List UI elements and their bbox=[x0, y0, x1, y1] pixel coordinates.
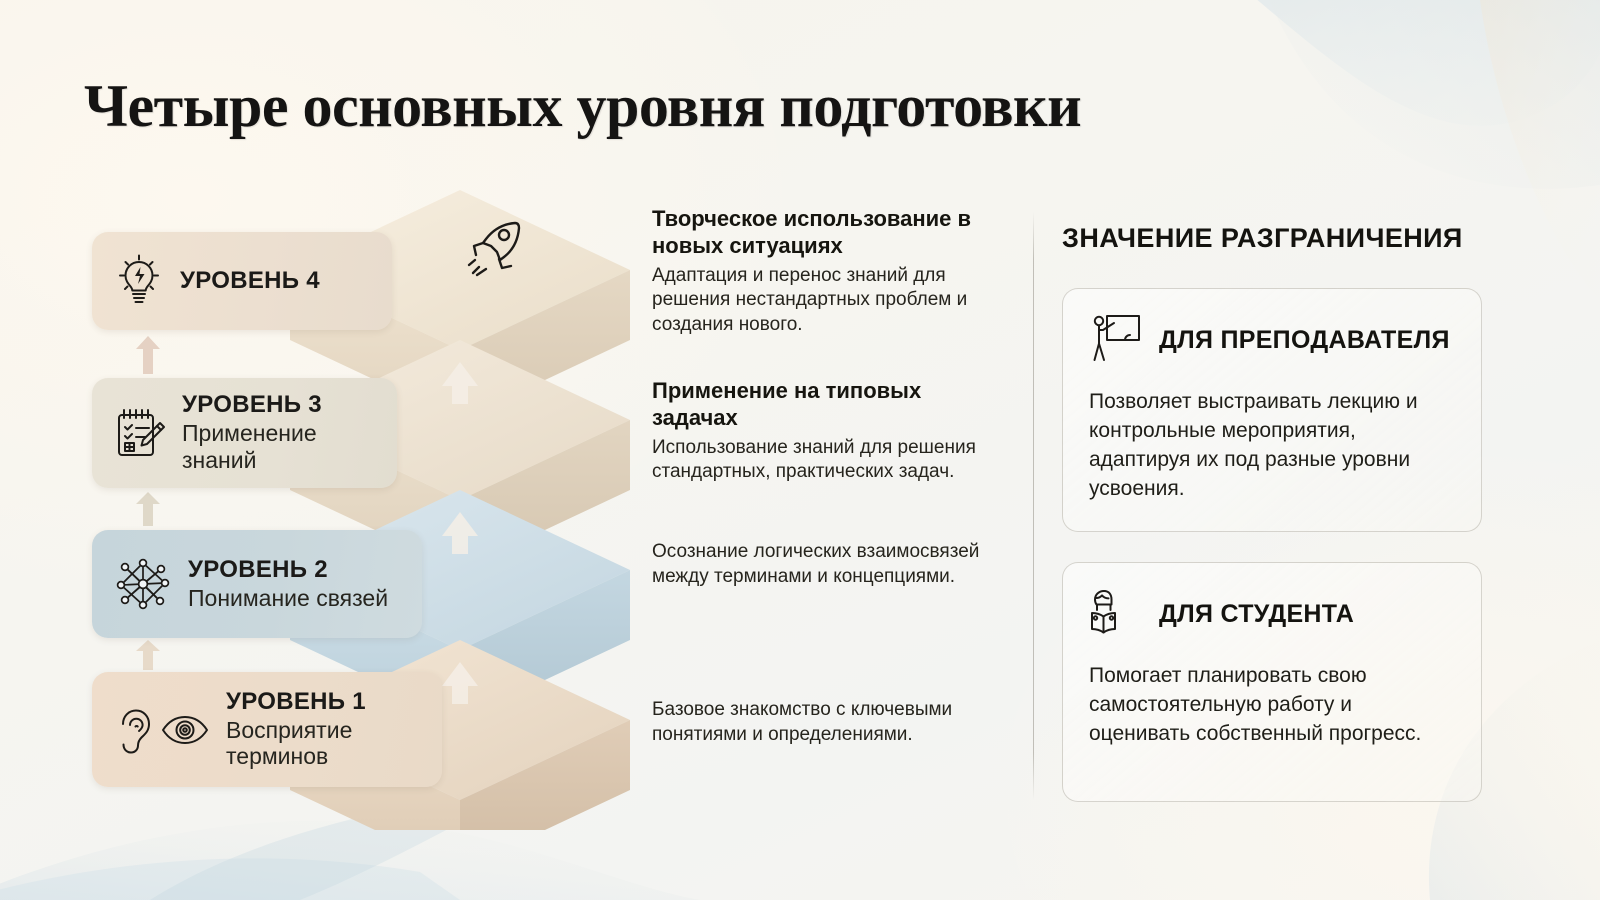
student-reading-icon bbox=[1089, 585, 1143, 644]
description-level-4: Творческое использование в новых ситуаци… bbox=[652, 206, 1004, 338]
description-level-2: Осознание логических взаимосвязей между … bbox=[652, 540, 1004, 589]
card-for-student[interactable]: ДЛЯ СТУДЕНТА Помогает планировать свою с… bbox=[1062, 562, 1482, 802]
infographic-canvas: Четыре основных уровня подготовки bbox=[0, 0, 1600, 900]
level-3-subtitle: Применение знаний bbox=[182, 420, 397, 473]
network-nodes-icon bbox=[114, 555, 172, 613]
card-for-student-title: ДЛЯ СТУДЕНТА bbox=[1159, 600, 1354, 629]
lightbulb-bolt-icon bbox=[114, 254, 164, 308]
level-2-subtitle: Понимание связей bbox=[188, 585, 388, 612]
teacher-board-icon bbox=[1089, 311, 1143, 370]
checklist-pencil-icon bbox=[114, 405, 166, 461]
level-1-label: УРОВЕНЬ 1 bbox=[226, 689, 442, 716]
card-for-teacher[interactable]: ДЛЯ ПРЕПОДАВАТЕЛЯ Позволяет выстраивать … bbox=[1062, 288, 1482, 532]
description-level-1: Базовое знакомство с ключевыми понятиями… bbox=[652, 698, 1004, 747]
description-level-3: Применение на типовых задачах Использова… bbox=[652, 378, 1004, 485]
right-panel-heading: ЗНАЧЕНИЕ РАЗГРАНИЧЕНИЯ bbox=[1062, 223, 1463, 254]
eye-icon bbox=[160, 710, 210, 750]
description-level-4-heading: Творческое использование в новых ситуаци… bbox=[652, 206, 1004, 260]
description-level-4-body: Адаптация и перенос знаний для решения н… bbox=[652, 264, 1004, 338]
arrow-up-2-to-3 bbox=[135, 492, 161, 526]
arrow-up-3-to-4 bbox=[135, 336, 161, 374]
level-2-pill[interactable]: УРОВЕНЬ 2 Понимание связей bbox=[92, 530, 422, 638]
level-2-label: УРОВЕНЬ 2 bbox=[188, 557, 388, 584]
description-level-3-body: Использование знаний для решения стандар… bbox=[652, 436, 1004, 485]
rocket-icon bbox=[466, 216, 528, 280]
arrow-up-1-to-2 bbox=[135, 640, 161, 670]
card-for-student-body: Помогает планировать свою самостоятельну… bbox=[1089, 662, 1457, 749]
card-for-teacher-body: Позволяет выстраивать лекцию и контрольн… bbox=[1089, 388, 1457, 504]
level-4-label: УРОВЕНЬ 4 bbox=[180, 268, 320, 295]
level-3-label: УРОВЕНЬ 3 bbox=[182, 392, 397, 419]
level-3-pill[interactable]: УРОВЕНЬ 3 Применение знаний bbox=[92, 378, 397, 488]
description-level-2-body: Осознание логических взаимосвязей между … bbox=[652, 540, 1004, 589]
level-4-pill[interactable]: УРОВЕНЬ 4 bbox=[92, 232, 392, 330]
description-level-1-body: Базовое знакомство с ключевыми понятиями… bbox=[652, 698, 1004, 747]
description-level-3-heading: Применение на типовых задачах bbox=[652, 378, 1004, 432]
card-for-teacher-title: ДЛЯ ПРЕПОДАВАТЕЛЯ bbox=[1159, 326, 1450, 355]
level-1-pill[interactable]: УРОВЕНЬ 1 Восприятие терминов bbox=[92, 672, 442, 787]
column-divider bbox=[1033, 212, 1034, 800]
ear-icon bbox=[114, 704, 152, 756]
level-1-subtitle: Восприятие терминов bbox=[226, 717, 442, 770]
page-title: Четыре основных уровня подготовки bbox=[84, 72, 1081, 141]
